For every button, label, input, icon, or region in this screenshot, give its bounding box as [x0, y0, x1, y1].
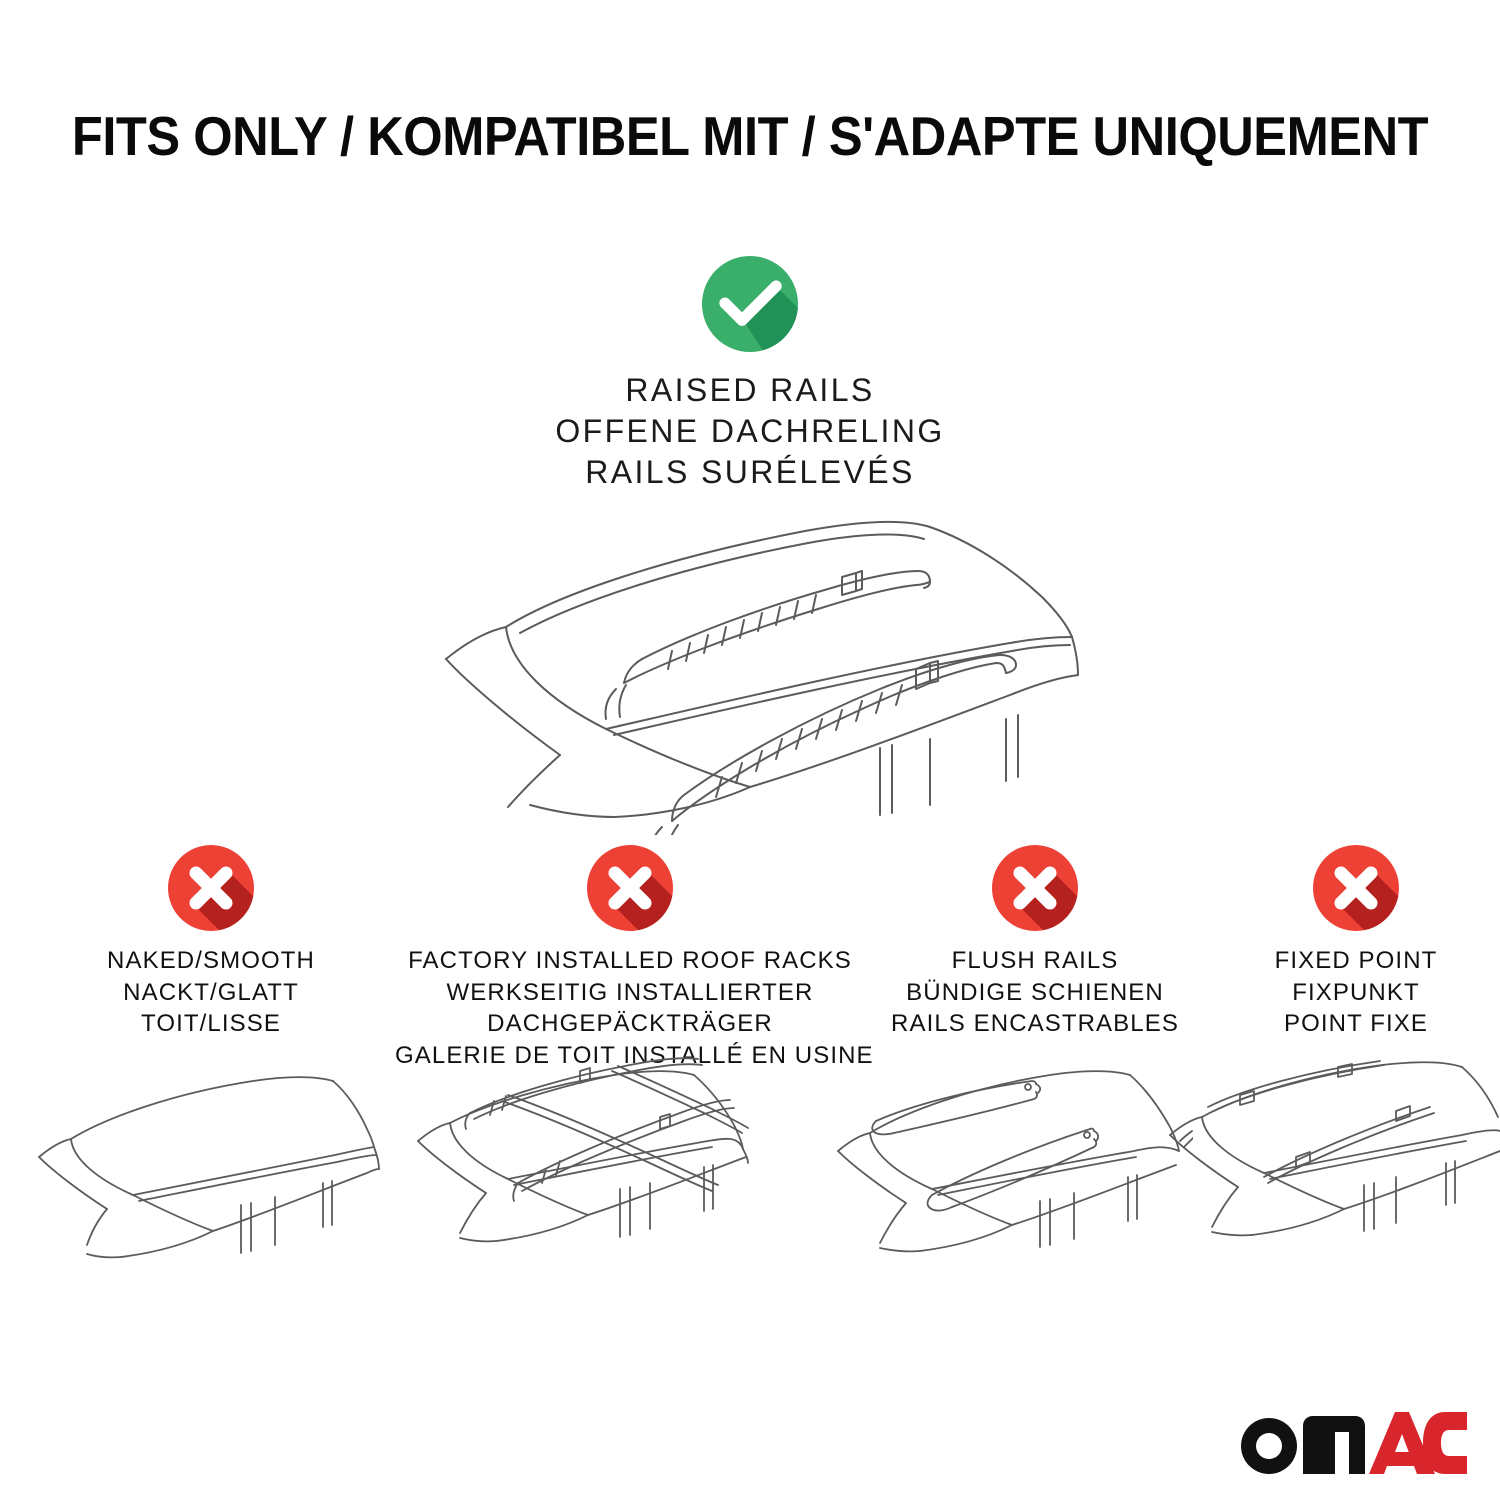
- x-mark-glyph: [1313, 845, 1399, 931]
- label-line-de: BÜNDIGE SCHIENEN: [876, 977, 1194, 1009]
- omac-logo-letter-o: [1241, 1418, 1297, 1474]
- red-x-circle-icon: [587, 845, 673, 931]
- omac-logo: [1233, 1406, 1468, 1478]
- roof-illustrations-row: [0, 1055, 1500, 1325]
- x-mark-glyph: [168, 845, 254, 931]
- green-check-circle-icon: [702, 256, 798, 352]
- check-mark-glyph: [702, 256, 798, 352]
- compatible-section: RAISED RAILS OFFENE DACHRELING RAILS SUR…: [0, 256, 1500, 493]
- label-line-en: FLUSH RAILS: [876, 945, 1194, 977]
- red-x-circle-icon: [992, 845, 1078, 931]
- car-roof-fixed-point-drawing: [1168, 1055, 1500, 1320]
- label-line-en: FIXED POINT: [1212, 945, 1500, 977]
- x-mark-glyph: [992, 845, 1078, 931]
- page-title: FITS ONLY / KOMPATIBEL MIT / S'ADAPTE UN…: [60, 104, 1440, 168]
- label-line-de-2: DACHGEPÄCKTRÄGER: [395, 1008, 865, 1040]
- incompatible-label: FACTORY INSTALLED ROOF RACKS WERKSEITIG …: [395, 945, 865, 1072]
- label-line-fr: TOIT/LISSE: [61, 1008, 361, 1040]
- omac-logo-mark: [1233, 1406, 1468, 1478]
- compatible-label: RAISED RAILS OFFENE DACHRELING RAILS SUR…: [0, 370, 1500, 493]
- incompatible-item-factory-installed-roof-racks: FACTORY INSTALLED ROOF RACKS WERKSEITIG …: [395, 845, 865, 1072]
- label-line-de-1: WERKSEITIG INSTALLIERTER: [395, 977, 865, 1009]
- label-line-de: NACKT/GLATT: [61, 977, 361, 1009]
- omac-logo-letter-m: [1303, 1416, 1365, 1474]
- omac-logo-letter-c: [1423, 1412, 1467, 1474]
- car-roof-naked-smooth-drawing: [35, 1055, 380, 1320]
- incompatible-label: FLUSH RAILS BÜNDIGE SCHIENEN RAILS ENCAS…: [876, 945, 1194, 1040]
- incompatible-item-fixed-point: FIXED POINT FIXPUNKT POINT FIXE: [1212, 845, 1500, 1040]
- label-line-de: FIXPUNKT: [1212, 977, 1500, 1009]
- incompatible-label: NAKED/SMOOTH NACKT/GLATT TOIT/LISSE: [61, 945, 361, 1040]
- incompatible-item-naked-smooth: NAKED/SMOOTH NACKT/GLATT TOIT/LISSE: [61, 845, 361, 1040]
- label-line-en: FACTORY INSTALLED ROOF RACKS: [395, 945, 865, 977]
- label-line-fr: RAILS ENCASTRABLES: [876, 1008, 1194, 1040]
- compatible-label-line-en: RAISED RAILS: [0, 370, 1500, 411]
- car-roof-with-raised-rails-drawing: [410, 505, 1090, 835]
- red-x-circle-icon: [168, 845, 254, 931]
- fitment-compatibility-graphic: FITS ONLY / KOMPATIBEL MIT / S'ADAPTE UN…: [0, 0, 1500, 1500]
- incompatible-label: FIXED POINT FIXPUNKT POINT FIXE: [1212, 945, 1500, 1040]
- incompatible-item-flush-rails: FLUSH RAILS BÜNDIGE SCHIENEN RAILS ENCAS…: [876, 845, 1194, 1040]
- car-roof-flush-rails-drawing: [828, 1055, 1193, 1320]
- x-mark-glyph: [587, 845, 673, 931]
- car-roof-factory-racks-drawing: [398, 1055, 758, 1320]
- label-line-fr: POINT FIXE: [1212, 1008, 1500, 1040]
- label-line-en: NAKED/SMOOTH: [61, 945, 361, 977]
- compatible-label-line-de: OFFENE DACHRELING: [0, 411, 1500, 452]
- red-x-circle-icon: [1313, 845, 1399, 931]
- compatible-label-line-fr: RAILS SURÉLEVÉS: [0, 452, 1500, 493]
